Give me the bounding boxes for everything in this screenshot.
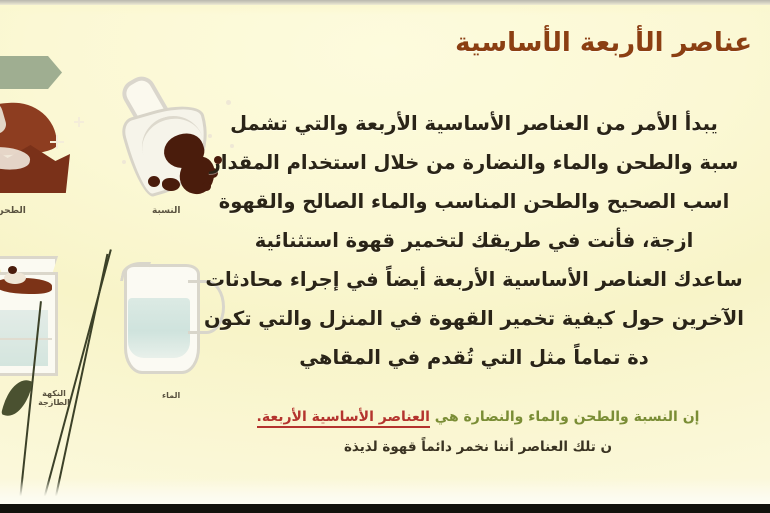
coffee-bean xyxy=(8,266,17,274)
pitcher-water xyxy=(128,298,190,358)
top-glow xyxy=(0,5,770,15)
pitcher-spout xyxy=(120,262,151,281)
body-line: ازجة، فأنت في طريقك لتخمير قهوة استثنائي… xyxy=(194,221,754,260)
conclusion-line-2: ن تلك العناصر أننا نخمر دائماً قهوة لذيذ… xyxy=(208,432,748,462)
body-line: يبدأ الأمر من العناصر الأساسية الأربعة و… xyxy=(194,104,754,143)
sparkle-icon xyxy=(74,121,84,123)
conclusion-red-underlined-text: العناصر الأساسية الأربعة. xyxy=(257,409,430,428)
coffee-bean xyxy=(162,178,180,191)
caption-grind: الطحن xyxy=(0,207,26,216)
body-line: ساعدك العناصر الأساسية الأربعة أيضاً في … xyxy=(194,260,754,299)
coffee-bean xyxy=(148,176,160,187)
slide-canvas: الطحن النسبة الماء النكهة الطازجة عناصر … xyxy=(0,0,770,513)
carton-fold xyxy=(0,338,52,372)
sparkle-icon xyxy=(50,141,64,143)
flavour-carton-illustration xyxy=(0,252,74,382)
conclusion-green-text: إن النسبة والطحن والماء والنضارة هي xyxy=(430,409,700,425)
body-line: الآخرين حول كيفية تخمير القهوة في المنزل… xyxy=(194,299,754,338)
body-line: دة تماماً مثل التي تُقدم في المقاهي xyxy=(194,338,754,377)
page-title: عناصر الأربعة الأساسية xyxy=(455,28,752,58)
bottom-chrome-bar xyxy=(0,504,770,513)
conclusion-line-1: إن النسبة والطحن والماء والنضارة هي العن… xyxy=(208,402,748,432)
caption-water: الماء xyxy=(162,392,180,400)
green-arrow-banner xyxy=(0,56,62,89)
caption-flavour: النكهة الطازجة xyxy=(26,389,82,407)
carton-foam xyxy=(4,272,26,284)
body-line: اسب الصحيح والطحن المناسب والماء الصالح … xyxy=(194,182,754,221)
body-line: سبة والطحن والماء والنضارة من خلال استخد… xyxy=(194,143,754,182)
coffee-grounds-illustration xyxy=(0,95,80,205)
conclusion-block: إن النسبة والطحن والماء والنضارة هي العن… xyxy=(208,402,748,462)
caption-ratio: النسبة xyxy=(152,207,180,216)
bottom-fade xyxy=(0,478,770,504)
speck-icon xyxy=(122,160,126,164)
body-paragraph: يبدأ الأمر من العناصر الأساسية الأربعة و… xyxy=(194,104,754,377)
